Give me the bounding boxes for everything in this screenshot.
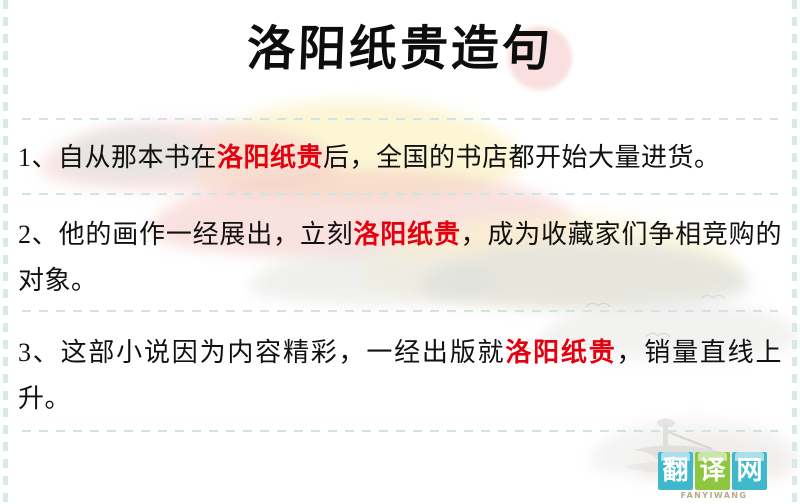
logo-characters: 翻 译 网 [658, 452, 770, 490]
logo-char-wang-text: 网 [736, 456, 762, 486]
highlighted-idiom: 洛阳纸贵 [505, 338, 616, 367]
sentence-number: 2、 [18, 220, 59, 249]
site-logo[interactable]: 翻 译 网 FANYIWANG [658, 452, 770, 500]
highlighted-idiom: 洛阳纸贵 [353, 220, 460, 249]
logo-char-wang: 网 [732, 452, 767, 490]
left-dashed-border [3, 0, 8, 504]
divider-top [22, 118, 778, 120]
logo-char-yi-text: 译 [699, 456, 725, 486]
logo-subtitle: FANYIWANG [658, 491, 770, 500]
page-root: 洛阳纸贵造句 1、自从那本书在洛阳纸贵后，全国的书店都开始大量进货。 2、他的画… [0, 0, 800, 504]
sentence-text-after: 后，全国的书店都开始大量进货。 [323, 143, 721, 172]
sentence-number: 1、 [18, 143, 58, 172]
sentence-text-before: 这部小说因为内容精彩，一经出版就 [61, 338, 506, 367]
divider-after-sentence-2 [22, 310, 778, 312]
logo-char-fan-text: 翻 [662, 456, 688, 486]
sentence-item-3: 3、这部小说因为内容精彩，一经出版就洛阳纸贵，销量直线上升。 [18, 330, 782, 422]
right-dashed-border [792, 0, 797, 504]
logo-char-fan: 翻 [658, 452, 693, 490]
sentence-number: 3、 [18, 338, 61, 367]
logo-char-yi: 译 [695, 452, 730, 490]
sentence-item-2: 2、他的画作一经展出，立刻洛阳纸贵，成为收藏家们争相竞购的对象。 [18, 212, 782, 304]
divider-after-sentence-3 [22, 430, 778, 432]
sentence-text-before: 自从那本书在 [58, 143, 217, 172]
page-title: 洛阳纸贵造句 [0, 18, 800, 80]
sentence-text-before: 他的画作一经展出，立刻 [59, 220, 354, 249]
sentence-item-1: 1、自从那本书在洛阳纸贵后，全国的书店都开始大量进货。 [18, 135, 782, 181]
divider-after-sentence-1 [22, 193, 778, 195]
highlighted-idiom: 洛阳纸贵 [217, 143, 323, 172]
content-area: 洛阳纸贵造句 1、自从那本书在洛阳纸贵后，全国的书店都开始大量进货。 2、他的画… [0, 0, 800, 504]
